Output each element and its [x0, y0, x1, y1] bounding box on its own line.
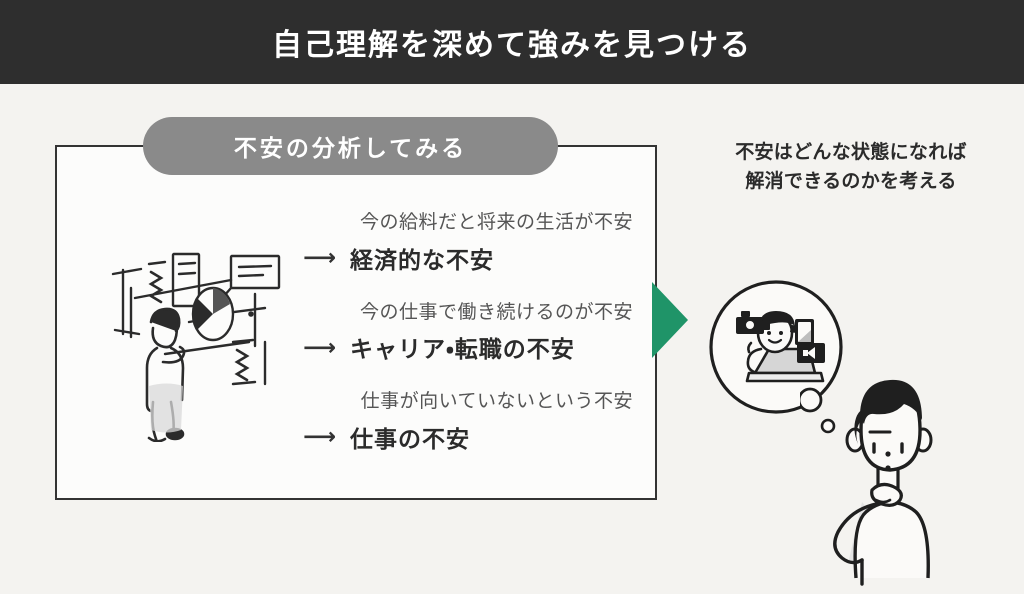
anxiety-question: 今の給料だと将来の生活が不安 — [285, 209, 633, 237]
anxiety-answer: 経済的な不安 — [350, 241, 494, 275]
person-analyzing-charts-illustration — [105, 242, 290, 442]
anxiety-item: 仕事が向いていないという不安 ⟶ 仕事の不安 — [285, 388, 633, 454]
anxiety-analysis-list: 今の給料だと将来の生活が不安 ⟶ 経済的な不安 今の仕事で働き続けるのが不安 ⟶… — [285, 209, 633, 454]
right-column-heading-line-1: 不安はどんな状態になれば — [690, 139, 1012, 168]
right-arrow-icon: ⟶ — [303, 425, 336, 448]
right-column-heading-line-2: 解消できるのかを考える — [690, 168, 1012, 197]
anxiety-question: 今の仕事で働き続けるのが不安 — [285, 299, 633, 327]
anxiety-question: 仕事が向いていないという不安 — [285, 388, 633, 416]
analysis-panel-badge-label: 不安の分析してみる — [234, 129, 467, 163]
analysis-panel-badge: 不安の分析してみる — [143, 117, 558, 175]
anxiety-item: 今の給料だと将来の生活が不安 ⟶ 経済的な不安 — [285, 209, 633, 275]
right-arrow-icon: ⟶ — [303, 336, 336, 359]
content-stage: 不安の分析してみる — [0, 84, 1024, 538]
anxiety-answer-row: ⟶ キャリア・転職の不安 — [285, 330, 633, 364]
anxiety-item: 今の仕事で働き続けるのが不安 ⟶ キャリア・転職の不安 — [285, 299, 633, 365]
green-triangle-arrow — [652, 282, 688, 358]
right-arrow-icon: ⟶ — [303, 246, 336, 269]
anxiety-answer: キャリア・転職の不安 — [350, 330, 575, 364]
header-banner: 自己理解を深めて強みを見つける — [0, 0, 1024, 84]
page-title: 自己理解を深めて強みを見つける — [272, 20, 752, 64]
right-column: 不安はどんな状態になれば 解消できるのかを考える — [690, 139, 1020, 539]
anxiety-answer-row: ⟶ 仕事の不安 — [285, 420, 633, 454]
anxiety-answer-row: ⟶ 経済的な不安 — [285, 241, 633, 275]
right-column-heading: 不安はどんな状態になれば 解消できるのかを考える — [690, 139, 1012, 196]
thinking-person-illustration — [800, 364, 990, 589]
anxiety-answer: 仕事の不安 — [350, 420, 470, 454]
